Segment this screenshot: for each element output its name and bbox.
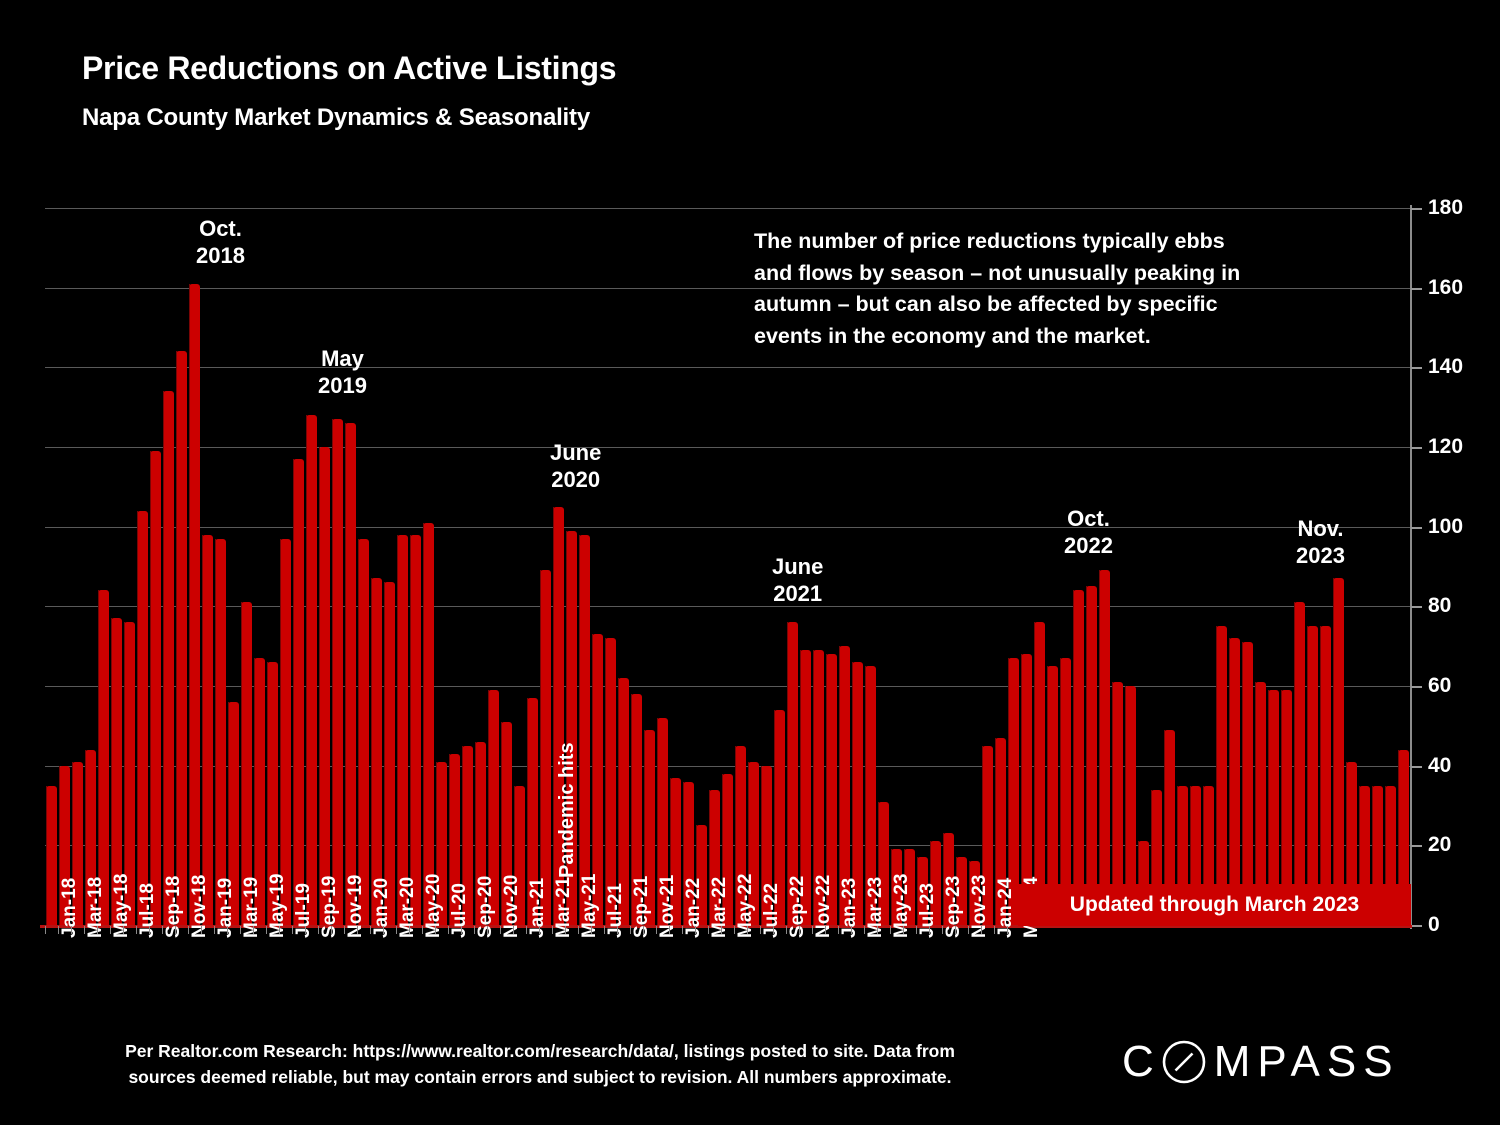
x-axis-tick xyxy=(474,926,475,934)
bar xyxy=(189,284,199,925)
x-axis-tick xyxy=(136,926,137,934)
x-axis-tick-label: Nov-20 xyxy=(501,875,523,938)
bar xyxy=(1294,602,1304,925)
callout-june-2020: June 2020 xyxy=(550,440,601,494)
bar xyxy=(1320,626,1330,925)
x-axis-tick xyxy=(513,926,514,934)
x-axis-tick xyxy=(123,926,124,934)
x-axis-tick xyxy=(669,926,670,934)
callout-nov-2023: Nov. 2023 xyxy=(1296,516,1345,570)
bar xyxy=(1086,586,1096,925)
callout-may-2019: May 2019 xyxy=(318,346,367,400)
x-axis-tick xyxy=(812,926,813,934)
x-axis-tick-label: Jan-22 xyxy=(683,878,705,938)
x-axis-tick xyxy=(721,926,722,934)
x-axis-tick xyxy=(383,926,384,934)
x-axis-tick-label: Sep-23 xyxy=(943,876,965,938)
bar xyxy=(150,451,160,925)
x-axis-tick xyxy=(825,926,826,934)
x-axis-tick xyxy=(461,926,462,934)
x-axis-tick-label: Mar-22 xyxy=(709,877,731,938)
x-axis-tick-label: May-21 xyxy=(579,874,601,938)
x-axis-tick xyxy=(864,926,865,934)
x-axis-tick xyxy=(175,926,176,934)
x-axis-tick xyxy=(539,926,540,934)
bar xyxy=(163,391,173,925)
source-note: Per Realtor.com Research: https://www.re… xyxy=(0,1038,1080,1091)
bar xyxy=(540,570,550,925)
x-axis-tick-label: Jan-18 xyxy=(59,878,81,938)
bar xyxy=(1216,626,1226,925)
x-axis-tick xyxy=(71,926,72,934)
x-axis-tick-label: Mar-18 xyxy=(85,877,107,938)
chart-page: Price Reductions on Active Listings Napa… xyxy=(0,0,1500,1125)
x-axis-tick-label: Sep-18 xyxy=(163,876,185,938)
bar xyxy=(46,786,56,925)
x-axis-tick xyxy=(331,926,332,934)
bar xyxy=(98,590,108,925)
x-axis-tick-label: Jan-19 xyxy=(215,878,237,938)
x-axis-tick xyxy=(396,926,397,934)
status-badge: Updated through March 2023 xyxy=(1018,884,1411,926)
callout-oct-2018: Oct. 2018 xyxy=(196,216,245,270)
x-axis-tick-label: Nov-23 xyxy=(969,875,991,938)
x-axis-tick xyxy=(799,926,800,934)
bar xyxy=(605,638,615,925)
x-axis-tick-label: Nov-19 xyxy=(345,875,367,938)
x-axis-tick-label: Mar-19 xyxy=(241,877,263,938)
x-axis-tick-label: Jan-23 xyxy=(839,878,861,938)
source-line-2: sources deemed reliable, but may contain… xyxy=(0,1064,1080,1090)
bar xyxy=(1073,590,1083,925)
bar xyxy=(202,535,212,925)
bar xyxy=(1242,642,1252,925)
x-axis-tick xyxy=(786,926,787,934)
bar xyxy=(1307,626,1317,925)
x-axis-tick-label: May-19 xyxy=(267,874,289,938)
x-axis-tick-label: May-18 xyxy=(111,874,133,938)
x-axis-tick-label: Jul-18 xyxy=(137,883,159,938)
bar xyxy=(176,351,186,925)
x-axis-tick xyxy=(682,926,683,934)
compass-o-icon xyxy=(1161,1039,1207,1085)
bar xyxy=(384,582,394,925)
x-axis-tick xyxy=(201,926,202,934)
x-axis-tick xyxy=(435,926,436,934)
x-axis-tick-label: Sep-21 xyxy=(631,876,653,938)
x-axis-tick-label: Jul-22 xyxy=(761,883,783,938)
source-line-1: Per Realtor.com Research: https://www.re… xyxy=(0,1038,1080,1064)
bar xyxy=(579,535,589,925)
x-axis-tick-label: Jan-21 xyxy=(527,878,549,938)
x-axis-tick xyxy=(968,926,969,934)
bar-series xyxy=(0,0,1500,925)
x-axis-tick xyxy=(695,926,696,934)
bar xyxy=(358,539,368,925)
x-axis-tick xyxy=(903,926,904,934)
x-axis-tick-label: Sep-19 xyxy=(319,876,341,938)
callout-oct-2022: Oct. 2022 xyxy=(1064,506,1113,560)
x-axis-tick-label: Jan-20 xyxy=(371,878,393,938)
x-axis-tick xyxy=(617,926,618,934)
x-axis-tick xyxy=(994,926,995,934)
x-axis-tick xyxy=(370,926,371,934)
bar xyxy=(345,423,355,925)
x-axis-tick xyxy=(266,926,267,934)
x-axis-tick xyxy=(942,926,943,934)
bar xyxy=(371,578,381,925)
bar xyxy=(280,539,290,925)
x-axis-tick xyxy=(344,926,345,934)
x-axis-tick xyxy=(448,926,449,934)
x-axis-tick xyxy=(734,926,735,934)
bar xyxy=(1099,570,1109,925)
x-axis-tick xyxy=(305,926,306,934)
x-axis-tick xyxy=(916,926,917,934)
x-axis-tick xyxy=(565,926,566,934)
bar xyxy=(332,419,342,925)
compass-logo: C MPASS xyxy=(1122,1037,1400,1087)
x-axis-tick-label: Nov-21 xyxy=(657,875,679,938)
x-axis-tick xyxy=(162,926,163,934)
logo-text-before: C xyxy=(1122,1037,1161,1087)
banner-label: Updated through March 2023 xyxy=(1018,893,1411,917)
bar xyxy=(397,535,407,925)
x-axis-tick-label: Mar-23 xyxy=(865,877,887,938)
x-axis-tick xyxy=(981,926,982,934)
x-axis-tick-label: Jul-19 xyxy=(293,883,315,938)
annotation-text: The number of price reductions typically… xyxy=(754,226,1310,352)
bar xyxy=(293,459,303,925)
x-axis-tick xyxy=(422,926,423,934)
x-axis-tick xyxy=(526,926,527,934)
x-axis-tick-label: Jan-24 xyxy=(995,878,1017,938)
x-axis-tick-label: Mar-20 xyxy=(397,877,419,938)
x-axis-tick xyxy=(890,926,891,934)
x-axis-tick-label: Nov-22 xyxy=(813,875,835,938)
x-axis-tick xyxy=(604,926,605,934)
annotation-line-2: and flows by season – not unusually peak… xyxy=(754,258,1310,290)
x-axis-tick xyxy=(1007,926,1008,934)
x-axis-tick xyxy=(656,926,657,934)
x-axis-tick xyxy=(279,926,280,934)
x-axis-tick-label: May-22 xyxy=(735,874,757,938)
x-axis-tick-label: Jul-20 xyxy=(449,883,471,938)
x-axis-tick xyxy=(773,926,774,934)
x-axis-tick-label: Mar-21 xyxy=(553,877,575,938)
bar xyxy=(1229,638,1239,925)
x-axis-tick-label: Jul-21 xyxy=(605,883,627,938)
x-axis-tick xyxy=(84,926,85,934)
x-axis-tick xyxy=(643,926,644,934)
x-axis-tick xyxy=(760,926,761,934)
x-axis-tick xyxy=(487,926,488,934)
logo-text-after: MPASS xyxy=(1214,1037,1400,1087)
x-axis-tick-label: Sep-20 xyxy=(475,876,497,938)
x-axis-tick xyxy=(708,926,709,934)
x-axis-tick xyxy=(877,926,878,934)
x-axis-tick xyxy=(578,926,579,934)
x-axis-tick xyxy=(747,926,748,934)
x-axis-tick xyxy=(630,926,631,934)
x-axis-tick xyxy=(45,926,46,934)
x-axis-tick-label: Jul-23 xyxy=(917,883,939,938)
bar xyxy=(1333,578,1343,925)
annotation-line-4: events in the economy and the market. xyxy=(754,321,1310,353)
x-axis-tick xyxy=(227,926,228,934)
x-axis-tick-label: Nov-18 xyxy=(189,875,211,938)
bar xyxy=(137,511,147,925)
x-axis-tick xyxy=(188,926,189,934)
x-axis-tick xyxy=(500,926,501,934)
x-axis-tick xyxy=(110,926,111,934)
x-axis-tick xyxy=(292,926,293,934)
x-axis-tick xyxy=(591,926,592,934)
x-axis-tick xyxy=(552,926,553,934)
x-axis-tick xyxy=(318,926,319,934)
bar xyxy=(215,539,225,925)
annotation-line-1: The number of price reductions typically… xyxy=(754,226,1310,258)
x-axis-tick xyxy=(929,926,930,934)
callout-june-2021: June 2021 xyxy=(772,554,823,608)
x-axis-tick-label: May-20 xyxy=(423,874,445,938)
bar xyxy=(306,415,316,925)
x-axis-tick-label: Sep-22 xyxy=(787,876,809,938)
x-axis-tick xyxy=(240,926,241,934)
x-axis-tick xyxy=(409,926,410,934)
x-axis-tick xyxy=(214,926,215,934)
x-axis-tick xyxy=(851,926,852,934)
x-axis-tick xyxy=(955,926,956,934)
x-axis-tick xyxy=(357,926,358,934)
x-axis-tick xyxy=(838,926,839,934)
x-axis-tick xyxy=(149,926,150,934)
bar xyxy=(410,535,420,925)
x-axis-tick xyxy=(58,926,59,934)
x-axis-tick-label: May-23 xyxy=(891,874,913,938)
annotation-line-3: autumn – but can also be affected by spe… xyxy=(754,289,1310,321)
bar xyxy=(319,447,329,925)
x-axis-tick xyxy=(253,926,254,934)
x-axis-tick xyxy=(97,926,98,934)
pandemic-hits-label: Pandemic hits xyxy=(556,742,579,878)
y-axis-tick xyxy=(1411,925,1422,927)
bar xyxy=(423,523,433,925)
